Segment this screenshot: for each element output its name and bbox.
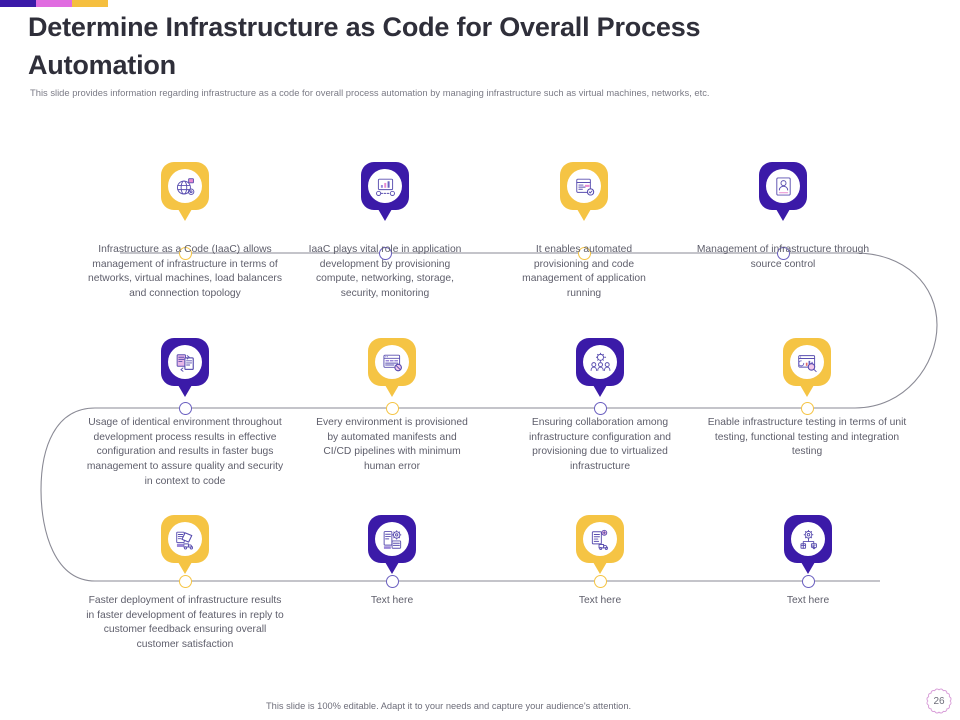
step-icon-disc-6 [375,345,409,379]
page-number-badge: 26 [922,684,956,718]
step-icon-disc-12 [791,522,825,556]
step-icon-disc-11 [583,522,617,556]
step-pin-10[interactable] [368,515,416,563]
step-pin-3[interactable] [560,162,608,210]
step-node-5[interactable] [179,402,192,415]
step-pin-tail-3 [577,209,591,221]
gear-network-icon [797,528,820,551]
step-node-10[interactable] [386,575,399,588]
step-pin-6[interactable] [368,338,416,386]
step-pin-tail-7 [593,385,607,397]
step-caption-6: Every environment is provisioned by auto… [312,416,472,475]
step-node-12[interactable] [802,575,815,588]
step-pin-tail-5 [178,385,192,397]
step-pin-tail-9 [178,562,192,574]
step-pin-4[interactable] [759,162,807,210]
source-control-icon [772,175,795,198]
step-node-7[interactable] [594,402,607,415]
slide-canvas: Determine Infrastructure as Code for Ove… [0,0,960,720]
step-pin-11[interactable] [576,515,624,563]
step-caption-8: Enable infrastructure testing in terms o… [707,416,907,460]
step-caption-2: IaaC plays vital role in application dev… [305,243,465,302]
step-pin-12[interactable] [784,515,832,563]
footer-note: This slide is 100% editable. Adapt it to… [266,701,631,711]
step-pin-7[interactable] [576,338,624,386]
step-icon-disc-10 [375,522,409,556]
bar-chart-server-icon [374,175,397,198]
step-caption-7: Ensuring collaboration among infrastruct… [505,416,695,475]
step-pin-tail-11 [593,562,607,574]
step-caption-12: Text here [748,594,868,609]
step-pin-9[interactable] [161,515,209,563]
step-icon-disc-4 [766,169,800,203]
step-icon-disc-9 [168,522,202,556]
step-pin-tail-6 [385,385,399,397]
globe-network-icon [174,175,197,198]
step-icon-disc-5 [168,345,202,379]
step-node-8[interactable] [801,402,814,415]
duplicate-documents-icon [174,351,197,374]
step-caption-5: Usage of identical environment throughou… [85,416,285,490]
browser-test-search-icon [796,351,819,374]
team-collaboration-icon [589,351,612,374]
step-pin-tail-12 [801,562,815,574]
step-pin-2[interactable] [361,162,409,210]
step-pin-8[interactable] [783,338,831,386]
step-pin-5[interactable] [161,338,209,386]
code-document-icon [573,175,596,198]
step-caption-11: Text here [540,594,660,609]
step-node-6[interactable] [386,402,399,415]
step-caption-1: Infrastructure as a Code (IaaC) allows m… [85,243,285,302]
step-node-9[interactable] [179,575,192,588]
page-number-text: 26 [922,684,956,718]
step-caption-3: It enables automated provisioning and co… [509,243,659,302]
step-icon-disc-2 [368,169,402,203]
step-pin-tail-4 [776,209,790,221]
step-pin-tail-10 [385,562,399,574]
step-pin-1[interactable] [161,162,209,210]
step-caption-9: Faster deployment of infrastructure resu… [85,594,285,653]
step-caption-4: Management of infrastructure through sou… [683,243,883,272]
clipboard-truck-icon [589,528,612,551]
step-icon-disc-3 [567,169,601,203]
step-pin-tail-1 [178,209,192,221]
step-pin-tail-2 [378,209,392,221]
browser-pipeline-icon [381,351,404,374]
step-icon-disc-1 [168,169,202,203]
step-caption-10: Text here [332,594,452,609]
step-node-11[interactable] [594,575,607,588]
deployment-truck-icon [174,528,197,551]
gear-document-icon [381,528,404,551]
step-icon-disc-7 [583,345,617,379]
step-pin-tail-8 [800,385,814,397]
step-icon-disc-8 [790,345,824,379]
